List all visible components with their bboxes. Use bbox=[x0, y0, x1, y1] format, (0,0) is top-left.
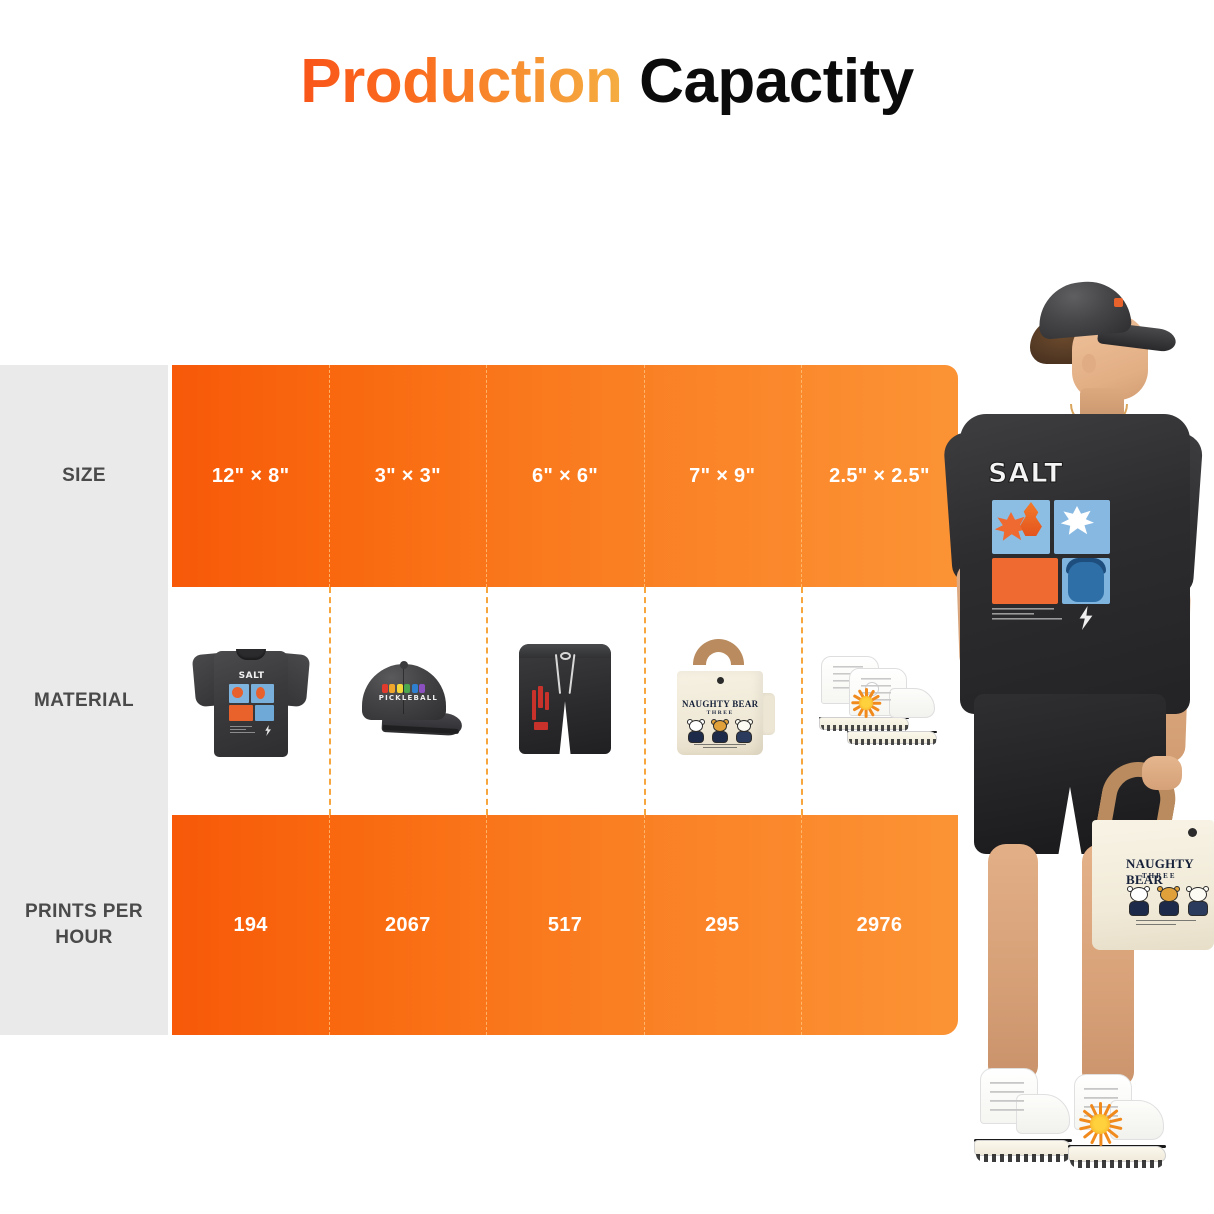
row-label-material: MATERIAL bbox=[0, 587, 168, 815]
cap-logo-dots bbox=[382, 683, 426, 693]
prints-value-1: 194 bbox=[233, 914, 267, 937]
row-label-size-text: SIZE bbox=[56, 463, 112, 489]
prints-value-3: 517 bbox=[548, 914, 582, 937]
prints-cell-3[interactable]: 517 bbox=[486, 815, 643, 1035]
title-word-production: Production bbox=[300, 47, 622, 116]
cap-button-icon bbox=[400, 661, 408, 669]
shorts-print-bar-2 bbox=[538, 686, 543, 708]
sun-icon bbox=[851, 688, 881, 718]
specs-table: SIZE 12" × 8" 3" × 3" 6" × 6" 7" × 9" 2.… bbox=[0, 365, 958, 1035]
prints-value-5: 2976 bbox=[857, 914, 903, 937]
model-tote-footnote bbox=[1136, 920, 1206, 928]
page-title: Production Capactity bbox=[0, 46, 1214, 117]
row-label-prints-per-hour: PRINTS PER HOUR bbox=[0, 815, 168, 1035]
size-value-5: 2.5" × 2.5" bbox=[829, 465, 930, 488]
tote-footnote-text bbox=[689, 744, 751, 750]
production-capacity-infographic: Production Capactity SIZE 12" × 8" 3" × … bbox=[0, 0, 1214, 1214]
row-label-prints-per-hour-text: PRINTS PER HOUR bbox=[19, 899, 149, 950]
model-tote-bear-graphics bbox=[1126, 886, 1210, 916]
cap-logo-dot-3 bbox=[397, 684, 403, 693]
model-cap-logo-icon bbox=[1114, 298, 1123, 307]
model-tote-snap-icon bbox=[1188, 828, 1197, 837]
material-cell-4[interactable]: NAUGHTY BEAR THREE bbox=[644, 587, 801, 815]
t-shirt-panel-4 bbox=[255, 705, 274, 721]
model-print-panel-3 bbox=[992, 558, 1058, 604]
cap-logo-dot-5 bbox=[412, 684, 418, 693]
size-value-3: 6" × 6" bbox=[532, 465, 598, 488]
cap-logo-text: PICKLEBALL bbox=[379, 694, 429, 702]
shorts-drawcord-knot-icon bbox=[560, 652, 571, 660]
product-image-baseball-cap: PICKLEBALL bbox=[329, 587, 486, 815]
row-label-material-text: MATERIAL bbox=[28, 688, 140, 714]
material-cell-1[interactable]: SALT bbox=[172, 587, 329, 815]
cap-logo-dot-4 bbox=[404, 684, 410, 693]
shorts-print-bar-4 bbox=[534, 722, 548, 730]
model-bear-icon-cream bbox=[1185, 887, 1210, 916]
bear-icon-brown bbox=[710, 720, 730, 743]
t-shirt-blob-2 bbox=[256, 687, 265, 699]
cap-logo-dot-1 bbox=[382, 684, 388, 693]
model-tote-bag-icon: NAUGHTY BEAR THREE bbox=[1090, 762, 1214, 982]
model-shirt-print-title: SALT bbox=[988, 458, 1116, 490]
size-cell-4[interactable]: 7" × 9" bbox=[644, 365, 801, 587]
shorts-print-bar-3 bbox=[545, 692, 549, 710]
shorts-print-bar-1 bbox=[532, 690, 536, 720]
cap-logo-dot-6 bbox=[419, 684, 425, 693]
sneaker-front-icon bbox=[849, 668, 937, 744]
prints-cell-2[interactable]: 2067 bbox=[329, 815, 486, 1035]
material-cell-2[interactable]: PICKLEBALL bbox=[329, 587, 486, 815]
tote-bag-icon: NAUGHTY BEAR THREE bbox=[667, 637, 777, 765]
t-shirt-icon: SALT bbox=[192, 641, 310, 761]
product-image-tote-bag: NAUGHTY BEAR THREE bbox=[644, 587, 801, 815]
row-size-values: 12" × 8" 3" × 3" 6" × 6" 7" × 9" 2.5" × … bbox=[172, 365, 958, 587]
t-shirt-print-graphic: SALT bbox=[228, 671, 276, 723]
material-cell-3[interactable] bbox=[486, 587, 643, 815]
tote-handle-icon bbox=[693, 639, 744, 665]
size-value-1: 12" × 8" bbox=[212, 465, 290, 488]
prints-value-2: 2067 bbox=[385, 914, 431, 937]
model-hand bbox=[1142, 756, 1182, 790]
cap-logo-dot-2 bbox=[389, 684, 395, 693]
size-cell-3[interactable]: 6" × 6" bbox=[486, 365, 643, 587]
size-value-4: 7" × 9" bbox=[689, 465, 755, 488]
row-label-prints-line2: HOUR bbox=[55, 927, 113, 948]
model-ear bbox=[1082, 354, 1096, 373]
model-shoe-sun-icon bbox=[1078, 1102, 1122, 1146]
prints-value-4: 295 bbox=[705, 914, 739, 937]
sun-ray bbox=[1099, 1132, 1102, 1146]
prints-cell-4[interactable]: 295 bbox=[644, 815, 801, 1035]
model-bear-icon-white bbox=[1126, 887, 1151, 916]
prints-cell-1[interactable]: 194 bbox=[172, 815, 329, 1035]
model-photo: SALT bbox=[930, 262, 1214, 1214]
model-leg-left bbox=[988, 844, 1038, 1080]
model-shoe-left-icon bbox=[972, 1068, 1064, 1164]
t-shirt-blob-1 bbox=[232, 687, 243, 698]
product-image-t-shirt: SALT bbox=[172, 587, 329, 815]
product-image-shorts bbox=[486, 587, 643, 815]
model-tote-subtitle-text: THREE bbox=[1142, 872, 1212, 880]
t-shirt-panel-3 bbox=[229, 705, 253, 721]
row-material-products: SALT bbox=[172, 587, 958, 815]
size-cell-2[interactable]: 3" × 3" bbox=[329, 365, 486, 587]
title-word-capacity: Capactity bbox=[639, 47, 914, 116]
tote-bear-graphics bbox=[686, 719, 754, 743]
model-bear-icon-brown bbox=[1156, 887, 1181, 916]
baseball-cap-icon: PICKLEBALL bbox=[352, 660, 464, 742]
size-cell-1[interactable]: 12" × 8" bbox=[172, 365, 329, 587]
model-cap-crown-icon bbox=[1036, 278, 1132, 340]
tote-subtitle-text: THREE bbox=[681, 710, 759, 716]
model-shirt-print-graphic: SALT bbox=[988, 458, 1116, 626]
row-label-prints-line1: PRINTS PER bbox=[25, 901, 143, 922]
row-label-size: SIZE bbox=[0, 365, 168, 587]
size-value-2: 3" × 3" bbox=[375, 465, 441, 488]
model-print-face bbox=[1068, 562, 1104, 602]
shorts-print-graphic bbox=[532, 686, 554, 732]
high-top-sneakers-icon bbox=[815, 646, 943, 756]
bear-icon-cream bbox=[734, 720, 754, 743]
bear-icon-white bbox=[686, 720, 706, 743]
row-prints-values: 194 2067 517 295 2976 bbox=[172, 815, 958, 1035]
tote-title-text: NAUGHTY BEAR bbox=[681, 699, 759, 709]
t-shirt-print-title: SALT bbox=[229, 671, 275, 682]
model-print-caption bbox=[992, 608, 1066, 624]
model-shoe-right-icon bbox=[1066, 1074, 1170, 1170]
shorts-icon bbox=[513, 638, 617, 764]
t-shirt-print-caption bbox=[230, 726, 260, 736]
tote-snap-button-icon bbox=[717, 677, 724, 684]
